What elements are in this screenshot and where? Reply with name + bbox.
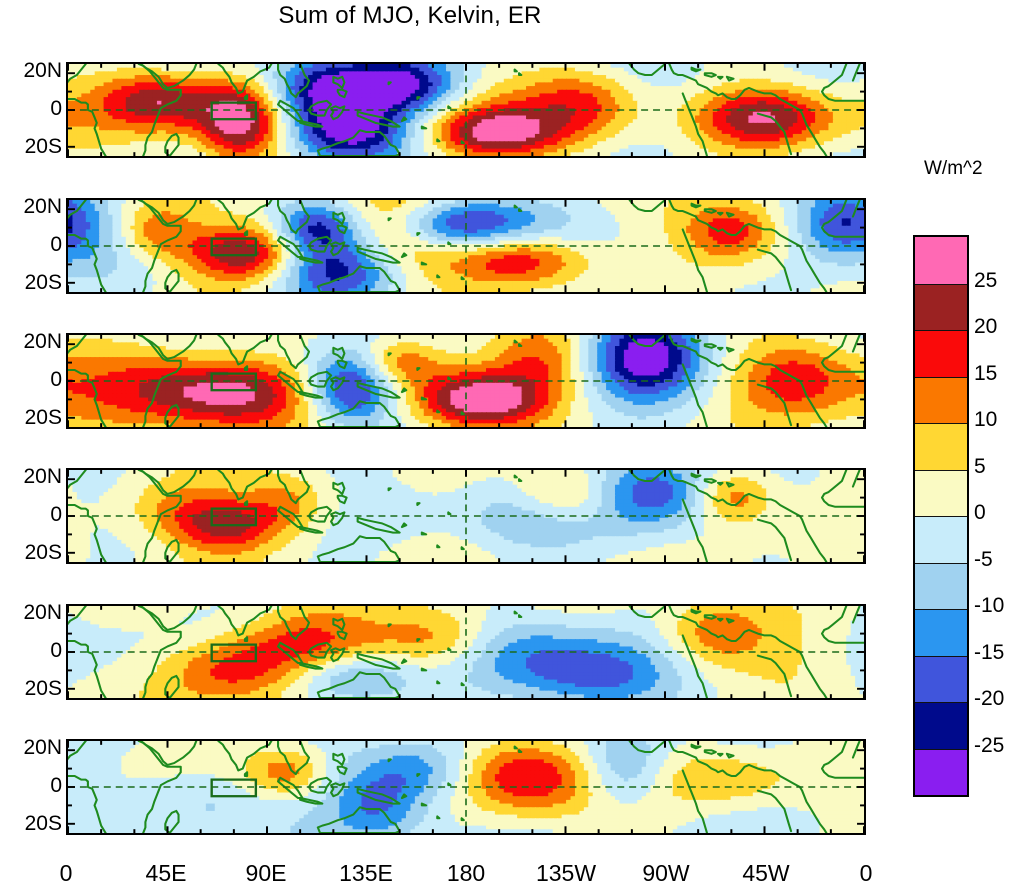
y-tick-label: 0 <box>50 774 62 798</box>
panel-plot-area <box>68 64 864 156</box>
colorbar-unit-label: W/m^2 <box>924 158 983 180</box>
colorbar-segment <box>915 702 967 749</box>
colorbar-segment <box>915 423 967 470</box>
y-axis-labels-4: 20N020S <box>0 468 62 564</box>
y-tick-label: 20N <box>23 195 62 219</box>
y-axis-labels-5: 20N020S <box>0 604 62 700</box>
map-panel-1: 9-Dec-2011 to 11-Dec-2011Observed <box>66 62 866 158</box>
colorbar-tick-label: 15 <box>974 362 997 386</box>
colorbar-segment <box>915 563 967 610</box>
y-axis-labels-1: 20N020S <box>0 62 62 158</box>
y-axis-labels-3: 20N020S <box>0 333 62 429</box>
colorbar-segment <box>915 470 967 517</box>
colorbar-tick-label: -10 <box>974 594 1004 618</box>
x-tick-label: 90W <box>642 860 689 887</box>
colorbar-segment <box>915 377 967 424</box>
colorbar-tick-label: 5 <box>974 455 986 479</box>
y-tick-label: 20S <box>25 677 62 701</box>
map-panel-6: 24-Dec-2011 to 26-Dec-2011Projected <box>66 739 866 835</box>
y-tick-label: 20S <box>25 135 62 159</box>
colorbar-segment <box>915 516 967 563</box>
y-tick-label: 20N <box>23 601 62 625</box>
colorbar-tick-label: 25 <box>974 269 997 293</box>
colorbar-tick-label: -5 <box>974 548 993 572</box>
colorbar-tick-label: -15 <box>974 641 1004 665</box>
page-title: Sum of MJO, Kelvin, ER <box>0 2 820 30</box>
x-tick-label: 0 <box>860 860 873 887</box>
colorbar-segment <box>915 330 967 377</box>
colorbar-segment <box>915 284 967 331</box>
colorbar-tick-label: 20 <box>974 315 997 339</box>
x-tick-label: 90E <box>246 860 287 887</box>
y-tick-label: 20S <box>25 271 62 295</box>
x-tick-label: 45E <box>146 860 187 887</box>
colorbar-segment <box>915 609 967 656</box>
y-tick-label: 20N <box>23 465 62 489</box>
x-axis: 045E90E135E180135W90W45W0 <box>66 858 866 888</box>
y-tick-label: 20S <box>25 406 62 430</box>
y-tick-label: 20N <box>23 330 62 354</box>
x-tick-label: 135E <box>339 860 393 887</box>
map-panel-3: 15-Dec-2011 to 17-Dec-2011Observed <box>66 333 866 429</box>
y-tick-label: 0 <box>50 97 62 121</box>
y-tick-label: 20N <box>23 59 62 83</box>
colorbar-segment <box>915 237 967 284</box>
colorbar-tick-label: 10 <box>974 408 997 432</box>
colorbar-segment <box>915 749 967 796</box>
colorbar-segment <box>915 656 967 703</box>
panel-plot-area <box>68 606 864 698</box>
y-axis-labels-6: 20N020S <box>0 739 62 835</box>
panel-plot-area <box>68 200 864 292</box>
x-tick-label: 0 <box>60 860 73 887</box>
panel-plot-area <box>68 741 864 833</box>
y-tick-label: 20N <box>23 736 62 760</box>
y-tick-label: 0 <box>50 503 62 527</box>
colorbar-tick-label: -20 <box>974 687 1004 711</box>
y-tick-label: 20S <box>25 812 62 836</box>
y-tick-label: 0 <box>50 233 62 257</box>
colorbar <box>913 235 969 797</box>
map-panel-5: 21-Dec-2011 to 23-Dec-2011Projected <box>66 604 866 700</box>
y-axis-labels-2: 20N020S <box>0 198 62 294</box>
figure-root: Sum of MJO, Kelvin, ER 9-Dec-2011 to 11-… <box>0 0 1021 889</box>
x-tick-label: 180 <box>447 860 485 887</box>
colorbar-tick-label: 0 <box>974 501 986 525</box>
map-panel-4: 18-Dec-2011 to 20-Dec-2011Projected <box>66 468 866 564</box>
x-tick-label: 45W <box>742 860 789 887</box>
map-panel-2: 12-Dec-2011 to 14-Dec-2011Observed <box>66 198 866 294</box>
x-tick-label: 135W <box>536 860 596 887</box>
panel-plot-area <box>68 470 864 562</box>
y-tick-label: 20S <box>25 541 62 565</box>
panel-plot-area <box>68 335 864 427</box>
y-tick-label: 0 <box>50 639 62 663</box>
colorbar-tick-label: -25 <box>974 734 1004 758</box>
y-tick-label: 0 <box>50 368 62 392</box>
